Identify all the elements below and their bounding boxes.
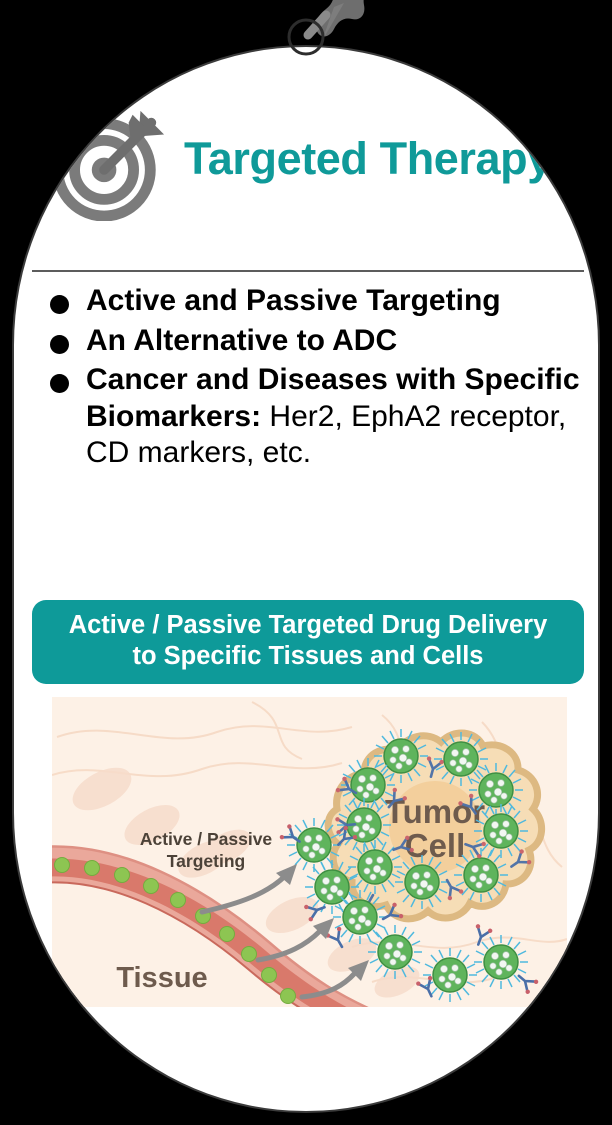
targeted-therapy-card: Targeted Therapy Active and Passive Targ… — [12, 45, 600, 1113]
feature-bullet-list: Active and Passive Targeting An Alternat… — [34, 283, 590, 475]
drug-delivery-illustration: Tumor Cell — [52, 697, 567, 1007]
list-item: Cancer and Diseases with Specific Biomar… — [34, 362, 590, 472]
list-item: Active and Passive Targeting — [34, 283, 590, 320]
tissue-label: Tissue — [116, 962, 207, 994]
page-title: Targeted Therapy — [184, 136, 552, 181]
banner-line-1: Active / Passive Targeted Drug Delivery — [42, 610, 574, 641]
card-header: Targeted Therapy — [14, 47, 598, 270]
bullet-strong-text: Active and Passive Targeting — [86, 284, 501, 317]
targeting-label-line2: Targeting — [167, 851, 245, 871]
header-divider — [32, 270, 584, 272]
push-pin-icon[interactable] — [282, 0, 392, 65]
callout-banner: Active / Passive Targeted Drug Delivery … — [32, 600, 584, 684]
slide-canvas: Targeted Therapy Active and Passive Targ… — [0, 0, 612, 1125]
banner-line-2: to Specific Tissues and Cells — [42, 641, 574, 672]
tumor-cell-label-line2: Cell — [405, 827, 466, 864]
illustration-svg: Tumor Cell — [52, 697, 567, 1007]
targeting-label-line1: Active / Passive — [140, 829, 273, 849]
target-bullseye-icon — [50, 103, 168, 221]
bullet-strong-text: An Alternative to ADC — [86, 324, 397, 357]
list-item: An Alternative to ADC — [34, 323, 590, 360]
